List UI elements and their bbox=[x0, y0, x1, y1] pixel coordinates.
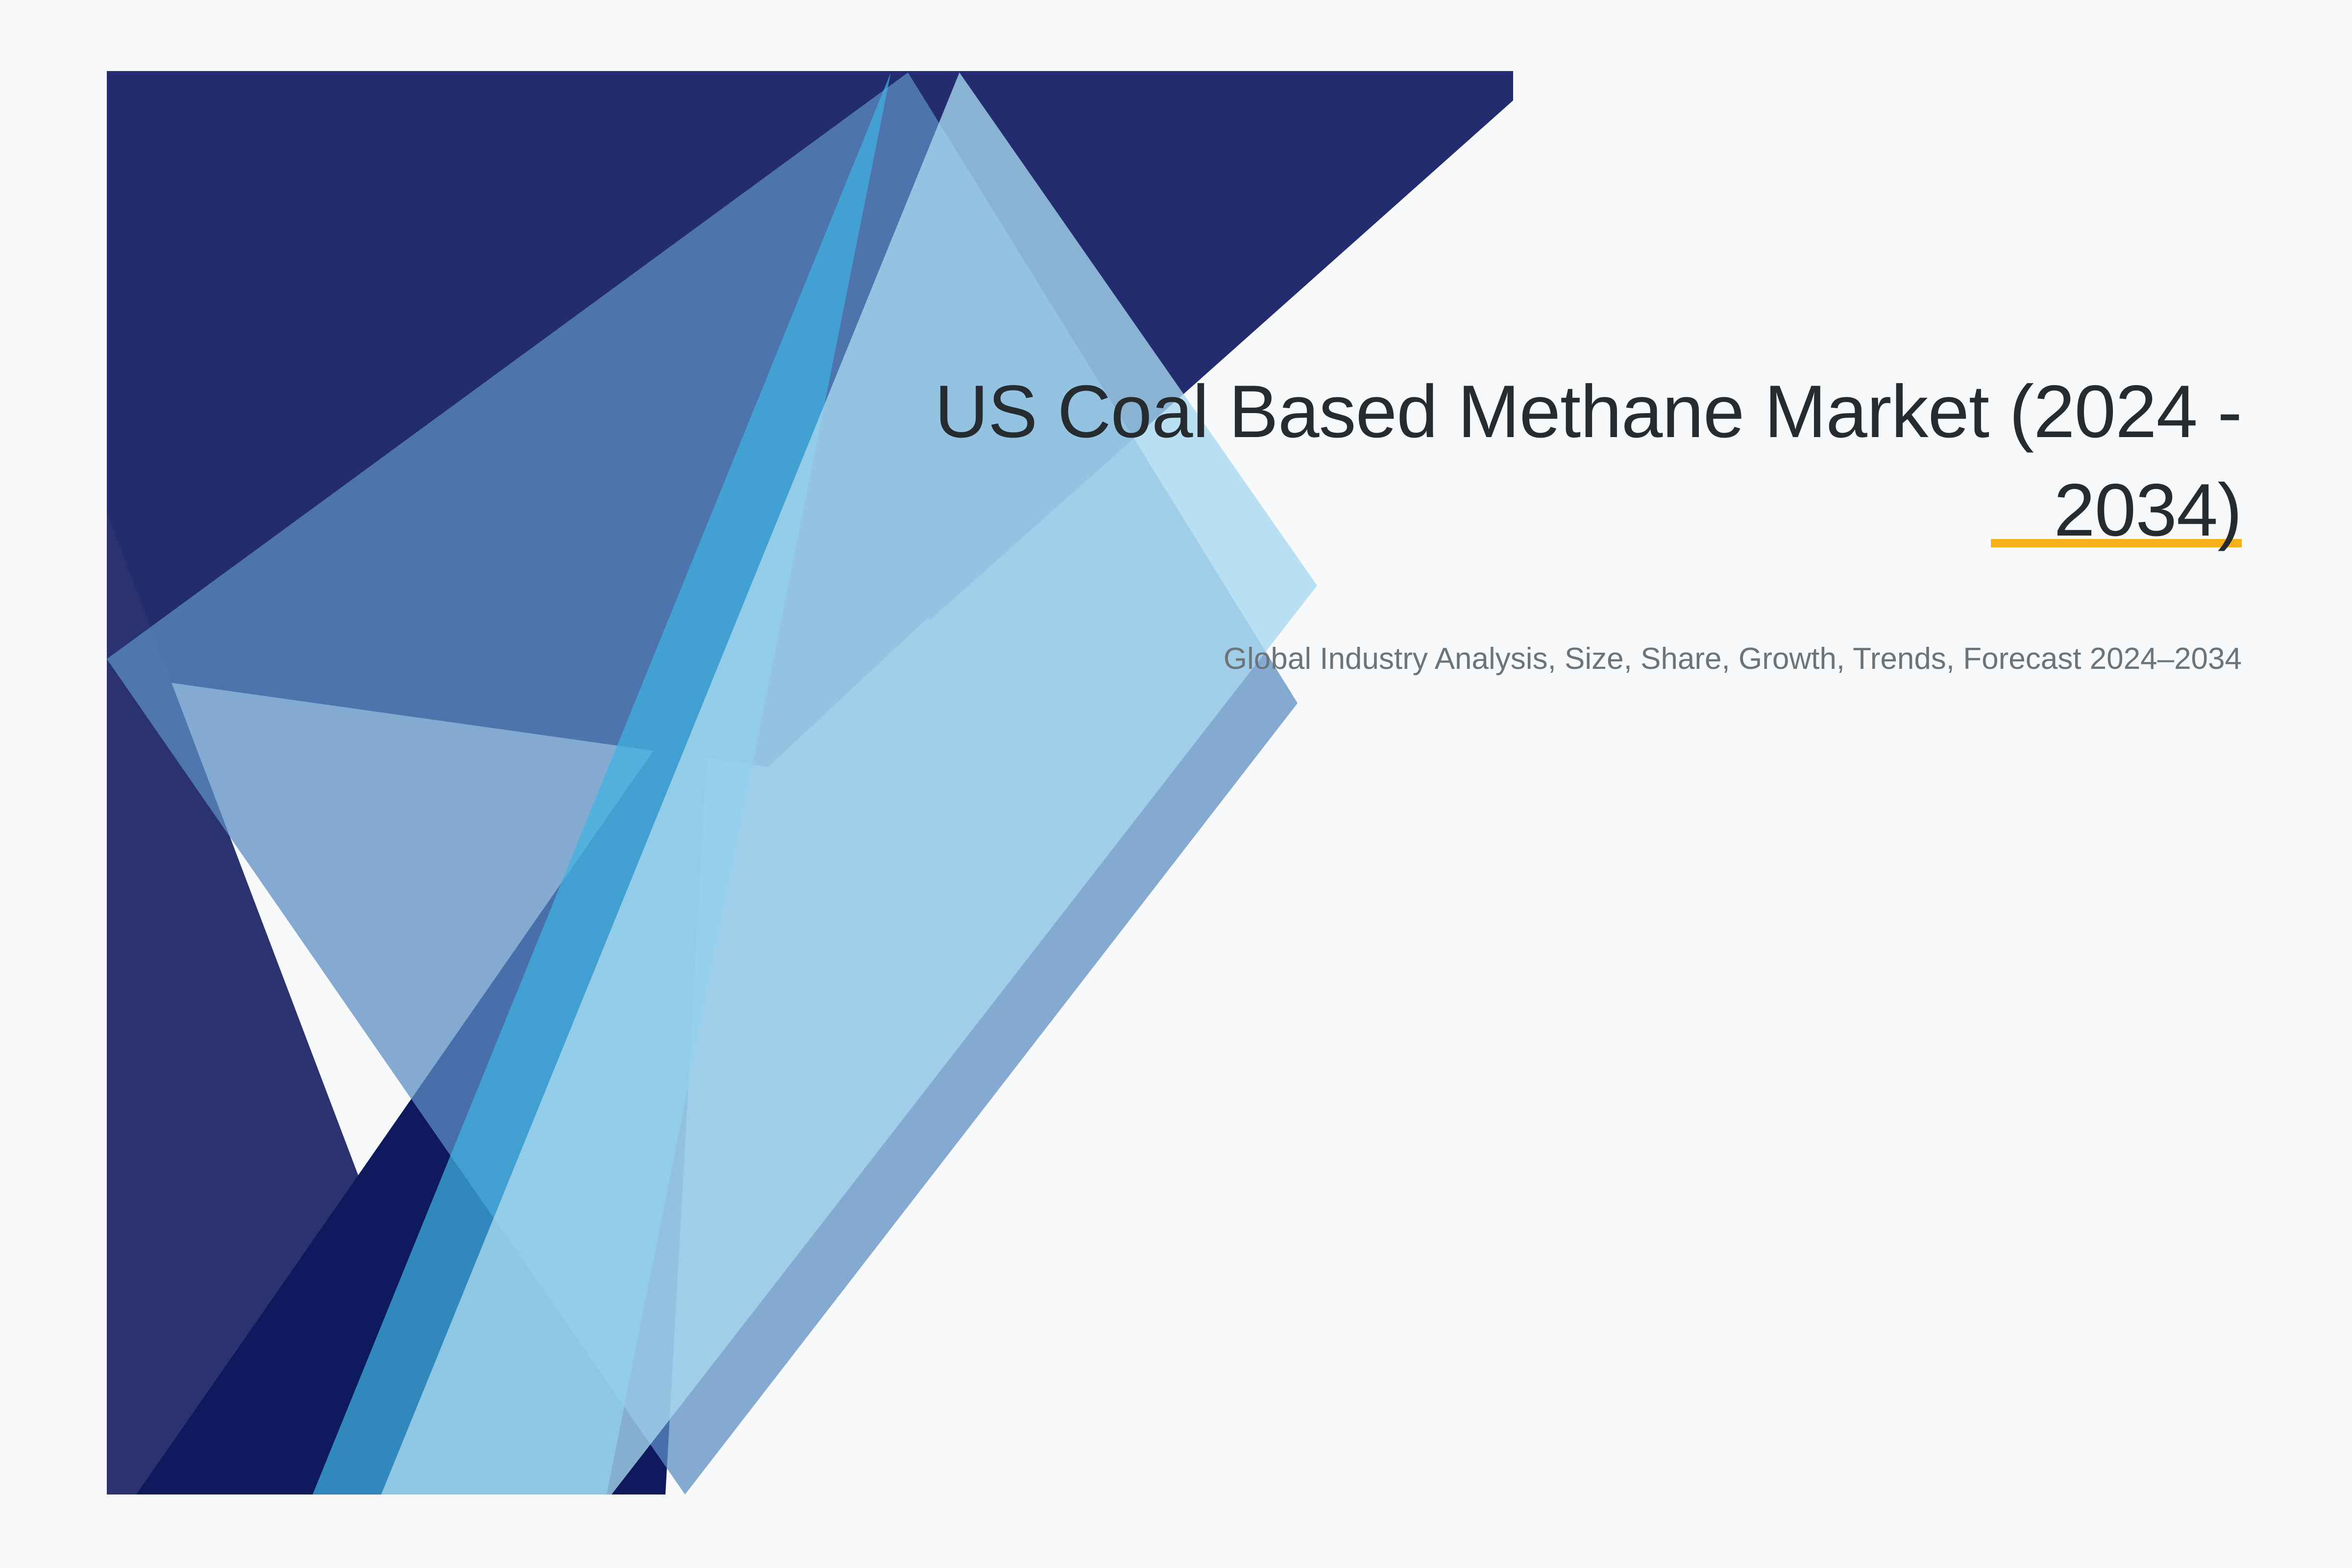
report-cover-page: US Coal Based Methane Market (2024 - 203… bbox=[0, 0, 2352, 1568]
abstract-geometric-banner bbox=[107, 71, 1513, 1494]
page-title: US Coal Based Methane Market (2024 - 203… bbox=[833, 363, 2242, 559]
title-wrapper: US Coal Based Methane Market (2024 - 203… bbox=[833, 363, 2242, 559]
cover-text-block: US Coal Based Methane Market (2024 - 203… bbox=[833, 363, 2242, 681]
page-subtitle: Global Industry Analysis, Size, Share, G… bbox=[833, 637, 2242, 681]
artwork-canvas bbox=[107, 71, 1513, 1494]
